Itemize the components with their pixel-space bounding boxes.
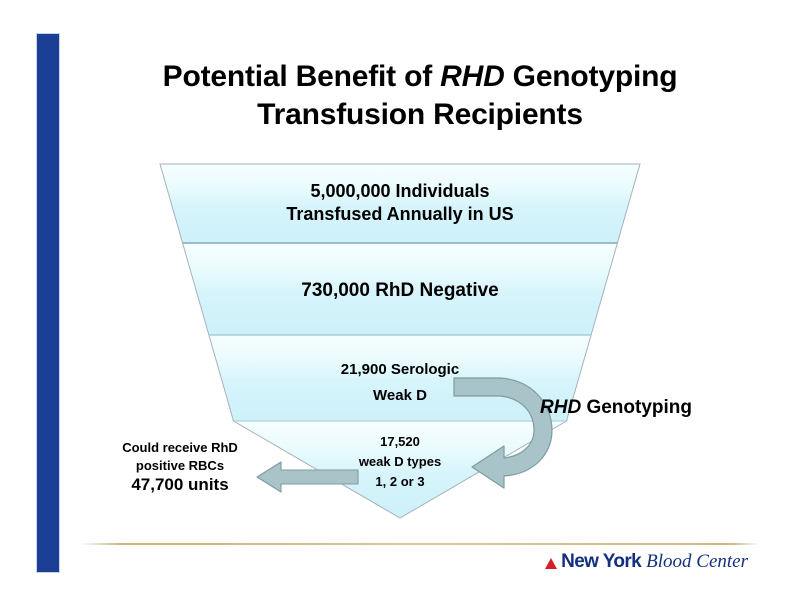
funnel-segment-1-label: 5,000,000 Individuals Transfused Annuall…: [190, 180, 610, 226]
rhd-genotyping-label: RHD Genotyping: [540, 397, 692, 419]
logo-secondary-text: Blood Center: [646, 551, 748, 573]
left-annotation-line-2: positive RBCs: [100, 457, 260, 475]
segment-1-line-2: Transfused Annually in US: [190, 203, 610, 226]
slide-canvas: Potential Benefit of RHD Genotyping Tran…: [0, 0, 800, 600]
left-annotation-line-1: Could receive RhD: [100, 439, 260, 457]
genotyping-label-rest: Genotyping: [581, 397, 692, 418]
new-york-blood-center-logo: New York Blood Center: [545, 551, 748, 573]
curved-arrow-shape: [454, 378, 552, 488]
logo-primary-text: New York: [561, 551, 641, 573]
funnel-segment-2-label: 730,000 RhD Negative: [200, 279, 600, 303]
triangle-icon: [545, 558, 557, 569]
segment-1-line-1: 5,000,000 Individuals: [190, 180, 610, 203]
title-gene-name: RHD: [440, 60, 504, 93]
curved-return-arrow: [448, 368, 573, 493]
left-accent-bar: [36, 33, 60, 573]
footer-divider-rule: [80, 543, 760, 545]
genotyping-gene-name: RHD: [540, 397, 581, 418]
title-line-1: Potential Benefit of RHD Genotyping: [90, 58, 750, 96]
left-annotation-line-3: 47,700 units: [100, 474, 260, 497]
page-title: Potential Benefit of RHD Genotyping Tran…: [90, 58, 750, 133]
title-text-post: Genotyping: [505, 60, 678, 93]
left-arrow-shape: [257, 462, 358, 492]
left-outcome-annotation: Could receive RhD positive RBCs 47,700 u…: [100, 439, 260, 497]
title-line-2: Transfusion Recipients: [90, 96, 750, 134]
left-pointing-arrow: [255, 458, 360, 496]
title-text-pre: Potential Benefit of: [163, 60, 440, 93]
segment-2-line-1: 730,000 RhD Negative: [200, 279, 600, 303]
